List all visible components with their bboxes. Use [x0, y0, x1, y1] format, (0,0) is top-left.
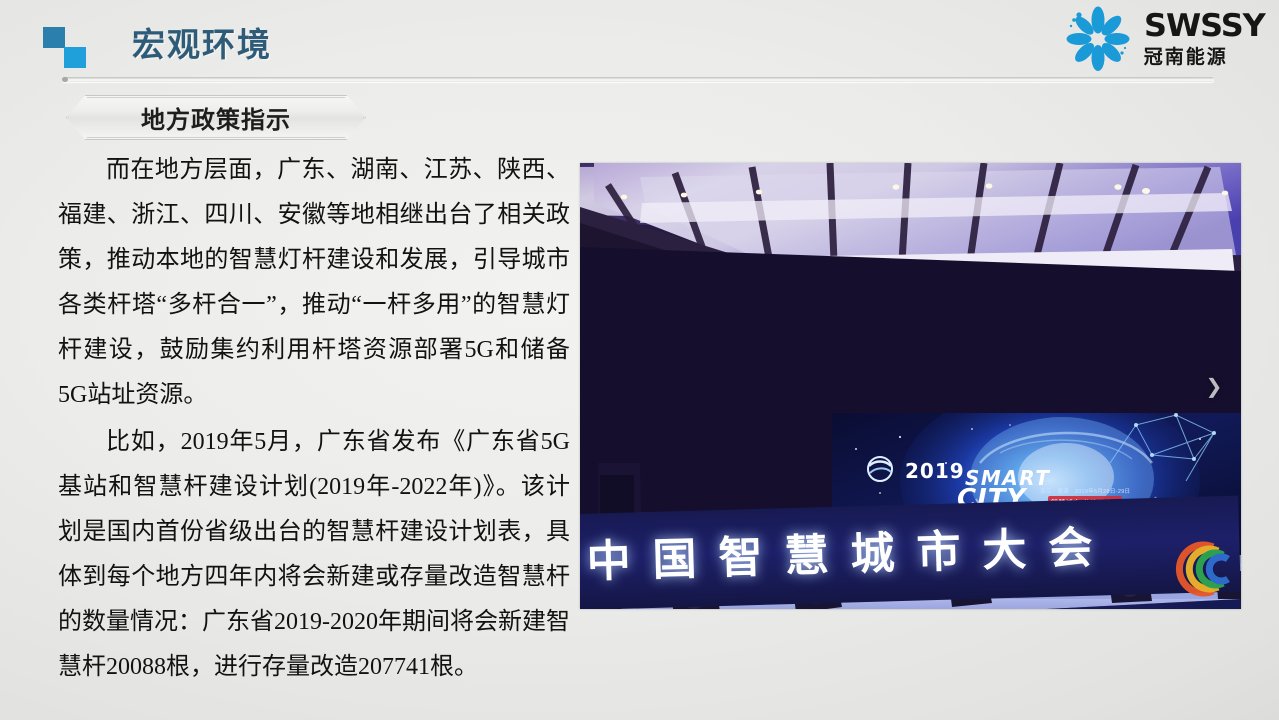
title-decoration-squares: [43, 27, 89, 69]
brand-text: SWSSY 冠南能源: [1144, 11, 1261, 67]
header-divider: [62, 77, 1214, 82]
screen-year-text: 2019: [905, 459, 965, 483]
rainbow-ring-logo-icon: [1169, 537, 1237, 601]
slide-header: 宏观环境: [0, 0, 1279, 82]
led-strip: 中国智慧城市大会: [580, 496, 1241, 609]
decoration-square-light: [64, 47, 86, 68]
brand-name: SWSSY: [1144, 11, 1265, 42]
brand-logo: SWSSY 冠南能源: [1064, 6, 1261, 72]
next-slide-chevron-icon[interactable]: ❯: [1201, 373, 1227, 399]
led-strip-text: 中国智慧城市大会: [586, 506, 1241, 590]
decoration-square-dark: [43, 27, 65, 48]
conference-photo: 2019 SMART CITY 智慧城市 共建共享 浙江 · 德清 2019年5…: [580, 163, 1241, 609]
section-tab: 地方政策指示: [66, 95, 366, 140]
page-title: 宏观环境: [132, 18, 272, 66]
body-text-block: 而在地方层面，广东、湖南、江苏、陕西、福建、浙江、四川、安徽等地相继出台了相关政…: [58, 148, 570, 692]
paragraph-1: 而在地方层面，广东、湖南、江苏、陕西、福建、浙江、四川、安徽等地相继出台了相关政…: [58, 148, 570, 418]
section-tab-label: 地方政策指示: [66, 95, 366, 140]
water-droplet-flower-icon: [1064, 6, 1132, 72]
screen-date-text: 浙江 · 德清 2019年5月28日-29日: [1040, 487, 1130, 495]
header-divider-cap: [62, 77, 68, 82]
slide-root: 宏观环境: [0, 0, 1279, 720]
paragraph-2: 比如，2019年5月，广东省发布《广东省5G基站和智慧杆建设计划(2019年-2…: [58, 420, 570, 690]
brand-subtitle: 冠南能源: [1144, 48, 1261, 67]
